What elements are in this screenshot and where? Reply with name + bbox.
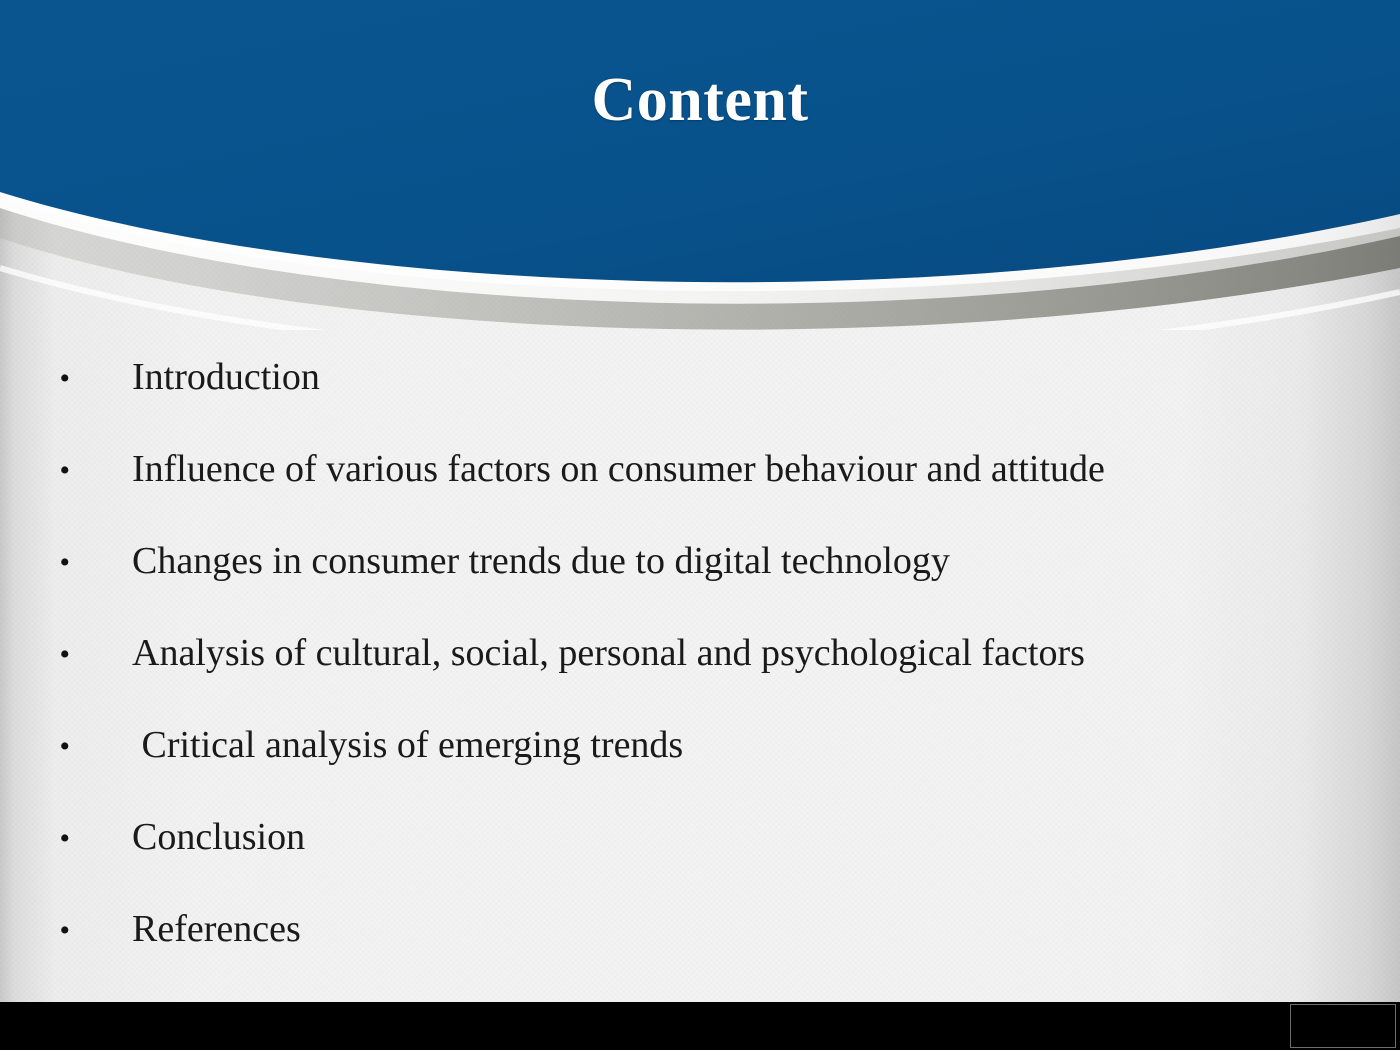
list-item[interactable]: • Changes in consumer trends due to digi…: [0, 536, 1400, 628]
bullet-point-icon: •: [0, 536, 70, 586]
list-item-label: References: [70, 904, 1400, 954]
slide-footer-band: [0, 1002, 1400, 1050]
header-curve-graphic: [0, 0, 1400, 330]
slide-header-banner: Content: [0, 0, 1400, 330]
bullet-point-icon: •: [0, 352, 70, 402]
list-item-label: Introduction: [70, 352, 1400, 402]
bullet-point-icon: •: [0, 720, 70, 770]
footer-placeholder-box[interactable]: [1290, 1004, 1396, 1048]
list-item-label: Changes in consumer trends due to digita…: [70, 536, 1400, 586]
content-bullet-list: • Introduction • Influence of various fa…: [0, 352, 1400, 996]
header-blue-shape: [0, 0, 1400, 282]
list-item[interactable]: • References: [0, 904, 1400, 996]
list-item[interactable]: • Conclusion: [0, 812, 1400, 904]
list-item[interactable]: • Critical analysis of emerging trends: [0, 720, 1400, 812]
list-item[interactable]: • Analysis of cultural, social, personal…: [0, 628, 1400, 720]
list-item-label: Analysis of cultural, social, personal a…: [70, 628, 1400, 678]
bullet-point-icon: •: [0, 444, 70, 494]
list-item-label: Conclusion: [70, 812, 1400, 862]
bullet-point-icon: •: [0, 628, 70, 678]
list-item-label: Critical analysis of emerging trends: [70, 720, 1400, 770]
presentation-slide: Content • Introduction • Influence of va…: [0, 0, 1400, 1050]
slide-title: Content: [0, 68, 1400, 133]
list-item[interactable]: • Influence of various factors on consum…: [0, 444, 1400, 536]
bullet-point-icon: •: [0, 812, 70, 862]
bullet-point-icon: •: [0, 904, 70, 954]
list-item[interactable]: • Introduction: [0, 352, 1400, 444]
list-item-label: Influence of various factors on consumer…: [70, 444, 1400, 494]
